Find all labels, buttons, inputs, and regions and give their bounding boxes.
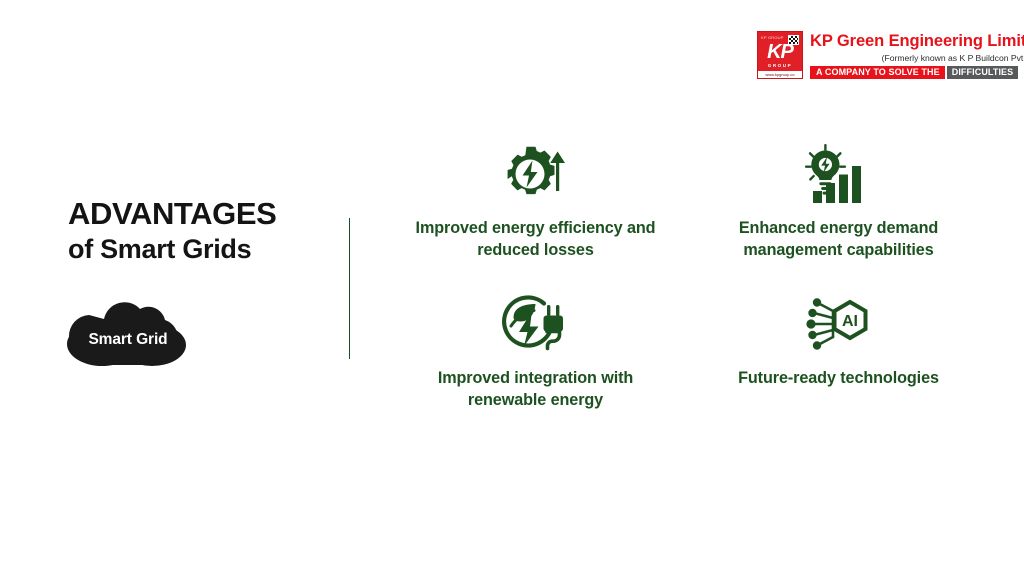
company-tagline: A COMPANY TO SOLVE THE DIFFICULTIES <box>810 66 1024 79</box>
advantage-label: Enhanced energy demand management capabi… <box>708 217 970 261</box>
advantage-label: Future-ready technologies <box>738 367 939 389</box>
section-divider <box>349 218 350 359</box>
brand-text-block: KP Green Engineering Limited (Formerly k… <box>810 31 1024 79</box>
lightbulb-bar-chart-icon <box>804 138 874 210</box>
logo-url-text: www.kpgroup.co <box>758 71 802 78</box>
advantage-label: Improved energy efficiency and reduced l… <box>405 217 667 261</box>
cloud-label: Smart Grid <box>64 330 192 349</box>
advantage-item: AI Future-ready technologies <box>695 288 982 411</box>
smart-grid-cloud: Smart Grid <box>64 297 192 375</box>
ai-chip-network-icon: AI <box>806 288 872 360</box>
logo-group-text: GROUP <box>758 63 802 69</box>
advantage-item: Improved energy efficiency and reduced l… <box>392 138 679 261</box>
svg-text:AI: AI <box>842 313 858 330</box>
brand-logo: KP GROUP KP GROUP www.kpgroup.co KP Gree… <box>757 31 1024 79</box>
company-former-name: (Formerly known as K P Buildcon Pvt. Ltd… <box>810 52 1024 64</box>
advantages-grid: Improved energy efficiency and reduced l… <box>392 138 982 411</box>
page-title-line2: of Smart Grids <box>68 232 338 266</box>
gear-bolt-uptrend-icon <box>504 138 568 210</box>
advantage-label: Improved integration with renewable ener… <box>405 367 667 411</box>
advantage-item: Enhanced energy demand management capabi… <box>695 138 982 261</box>
advantage-item: Improved integration with renewable ener… <box>392 288 679 411</box>
company-name: KP Green Engineering Limited <box>810 32 1024 51</box>
logo-initials: KP <box>758 41 802 63</box>
leaf-bolt-plug-icon <box>500 288 572 360</box>
page-title-line1: ADVANTAGES <box>68 196 338 232</box>
tagline-highlight: DIFFICULTIES <box>947 66 1019 79</box>
tagline-primary: A COMPANY TO SOLVE THE <box>810 66 945 79</box>
page-title: ADVANTAGES of Smart Grids <box>68 196 338 266</box>
kp-logo-mark: KP GROUP KP GROUP www.kpgroup.co <box>757 31 803 79</box>
